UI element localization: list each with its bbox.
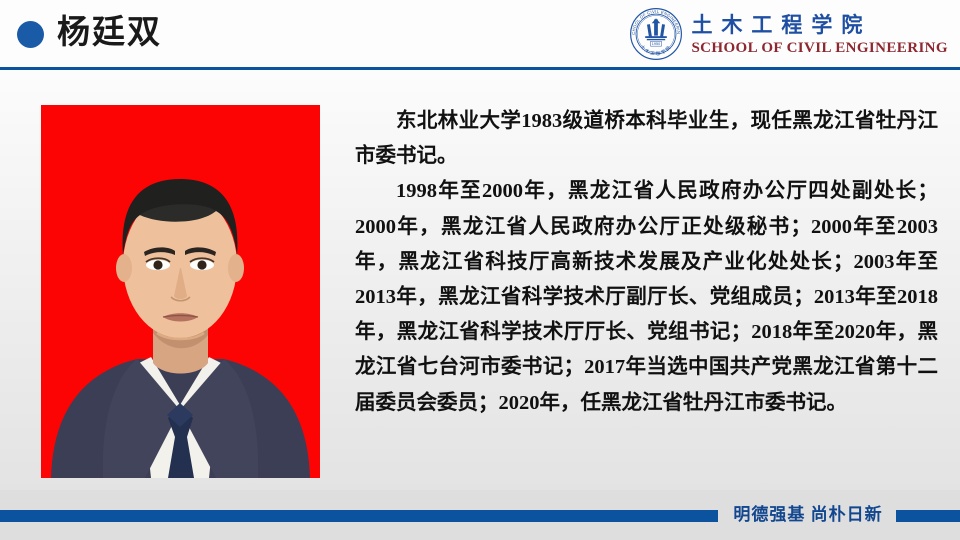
school-crest-icon: SCHOOL OF CIVIL ENGINEERING 土木工程学院 1950: [629, 7, 683, 61]
svg-text:1950: 1950: [652, 42, 660, 46]
portrait-photo: [41, 105, 320, 478]
page-title: 杨廷双: [57, 9, 162, 57]
footer-bar-left: [0, 510, 718, 522]
biography-paragraph-2: 1998年至2000年，黑龙江省人民政府办公厅四处副处长；2000年，黑龙江省人…: [355, 174, 938, 420]
footer-bar-right: [896, 510, 960, 522]
biography-paragraph-1: 东北林业大学1983级道桥本科毕业生，现任黑龙江省牡丹江市委书记。: [355, 104, 938, 174]
filled-circle-bullet-icon: [17, 21, 44, 48]
logo-text-block: 土木工程学院 SCHOOL OF CIVIL ENGINEERING: [691, 11, 948, 58]
portrait-illustration: [41, 105, 320, 478]
footer-motto: 明德强基 尚朴日新: [724, 503, 892, 527]
presentation-slide: 杨廷双 SCHOOL OF CIVIL ENGINEERING 土木工程学院: [0, 0, 960, 540]
logo-name-cn: 土木工程学院: [691, 13, 871, 38]
biography-text: 东北林业大学1983级道桥本科毕业生，现任黑龙江省牡丹江市委书记。 1998年至…: [355, 104, 938, 421]
school-logo: SCHOOL OF CIVIL ENGINEERING 土木工程学院 1950 …: [629, 4, 948, 64]
logo-name-en: SCHOOL OF CIVIL ENGINEERING: [691, 39, 948, 58]
